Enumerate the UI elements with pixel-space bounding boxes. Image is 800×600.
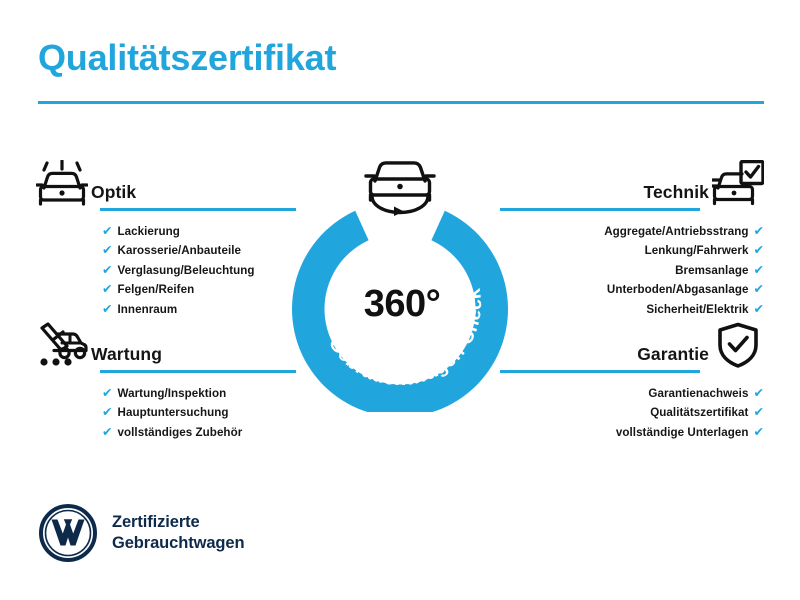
section-technik-list: Aggregate/Antriebsstrang✔ Lenkung/Fahrwe… xyxy=(497,222,767,319)
section-garantie: Garantie Garantienachweis✔ Qualitätszert… xyxy=(497,322,767,442)
list-item-label: Verglasung/Beleuchtung xyxy=(118,264,255,277)
check-icon: ✔ xyxy=(102,405,113,419)
section-wartung-divider xyxy=(100,370,296,373)
car-service-pen-icon xyxy=(33,322,91,368)
list-item: Qualitätszertifikat✔ xyxy=(497,403,764,422)
check-icon: ✔ xyxy=(102,302,113,316)
vw-logo-line1: Zertifizierte xyxy=(112,513,200,531)
list-item-label: Lackierung xyxy=(118,225,180,238)
list-item-label: Garantienachweis xyxy=(648,387,748,400)
list-item-label: vollständige Unterlagen xyxy=(616,426,749,439)
section-wartung: Wartung ✔Wartung/Inspektion ✔Hauptunters… xyxy=(33,322,303,442)
list-item-label: Sicherheit/Elektrik xyxy=(646,303,748,316)
vw-logo-line2: Gebrauchtwagen xyxy=(112,534,244,552)
list-item-label: Lenkung/Fahrwerk xyxy=(645,244,749,257)
car-shine-icon xyxy=(33,160,91,206)
section-technik-title: Technik xyxy=(497,182,709,206)
check-icon: ✔ xyxy=(753,386,764,400)
check-icon: ✔ xyxy=(102,224,113,238)
header-divider xyxy=(38,101,764,104)
vw-certified-logo: Zertifizierte Gebrauchtwagen xyxy=(38,503,244,563)
check-icon: ✔ xyxy=(753,405,764,419)
list-item: ✔Felgen/Reifen xyxy=(102,280,303,299)
check-icon: ✔ xyxy=(102,425,113,439)
section-wartung-list: ✔Wartung/Inspektion ✔Hauptuntersuchung ✔… xyxy=(33,384,303,442)
list-item: ✔Wartung/Inspektion xyxy=(102,384,303,403)
list-item-label: Qualitätszertifikat xyxy=(650,406,748,419)
vw-logo-text: Zertifizierte Gebrauchtwagen xyxy=(112,512,244,554)
section-optik-divider xyxy=(100,208,296,211)
list-item-label: Karosserie/Anbauteile xyxy=(118,244,241,257)
list-item: ✔vollständiges Zubehör xyxy=(102,423,303,442)
section-optik-list: ✔Lackierung ✔Karosserie/Anbauteile ✔Verg… xyxy=(33,222,303,319)
list-item: Bremsanlage✔ xyxy=(497,261,764,280)
list-item-label: Hauptuntersuchung xyxy=(118,406,229,419)
list-item: ✔Hauptuntersuchung xyxy=(102,403,303,422)
check-icon: ✔ xyxy=(753,243,764,257)
qualitaetszertifikat-page: Qualitätszertifikat xyxy=(0,0,800,600)
list-item-label: Aggregate/Antriebsstrang xyxy=(604,225,748,238)
page-title: Qualitätszertifikat xyxy=(38,38,336,78)
check-icon: ✔ xyxy=(102,282,113,296)
car-rotate-icon xyxy=(352,150,448,216)
360-ring-graphic: Gebrauchtwagen-Check xyxy=(292,196,508,412)
list-item: Sicherheit/Elektrik✔ xyxy=(497,300,764,319)
list-item: Garantienachweis✔ xyxy=(497,384,764,403)
section-technik: Technik Aggregate/Antriebsstrang✔ Lenkun… xyxy=(497,160,767,319)
list-item-label: vollständiges Zubehör xyxy=(118,426,243,439)
list-item: ✔Innenraum xyxy=(102,300,303,319)
check-icon: ✔ xyxy=(753,302,764,316)
360-check-badge: Gebrauchtwagen-Check 360° xyxy=(292,196,508,412)
check-icon: ✔ xyxy=(102,263,113,277)
car-checkbox-icon xyxy=(709,160,767,206)
check-icon: ✔ xyxy=(102,243,113,257)
list-item: ✔Verglasung/Beleuchtung xyxy=(102,261,303,280)
section-optik: Optik ✔Lackierung ✔Karosserie/Anbauteile… xyxy=(33,160,303,319)
shield-check-icon xyxy=(709,322,767,368)
check-icon: ✔ xyxy=(102,386,113,400)
section-technik-divider xyxy=(500,208,700,211)
section-optik-header: Optik xyxy=(33,160,303,206)
section-garantie-list: Garantienachweis✔ Qualitätszertifikat✔ v… xyxy=(497,384,767,442)
check-icon: ✔ xyxy=(753,425,764,439)
list-item: Lenkung/Fahrwerk✔ xyxy=(497,241,764,260)
vw-logo-icon xyxy=(38,503,98,563)
section-wartung-header: Wartung xyxy=(33,322,303,368)
check-icon: ✔ xyxy=(753,282,764,296)
check-icon: ✔ xyxy=(753,263,764,277)
list-item: Aggregate/Antriebsstrang✔ xyxy=(497,222,764,241)
list-item: ✔Lackierung xyxy=(102,222,303,241)
section-wartung-title: Wartung xyxy=(91,344,303,368)
section-optik-title: Optik xyxy=(91,182,303,206)
list-item-label: Felgen/Reifen xyxy=(118,283,195,296)
list-item-label: Unterboden/Abgasanlage xyxy=(607,283,749,296)
section-garantie-divider xyxy=(500,370,700,373)
list-item-label: Wartung/Inspektion xyxy=(118,387,227,400)
section-garantie-header: Garantie xyxy=(497,322,767,368)
list-item-label: Innenraum xyxy=(118,303,178,316)
section-technik-header: Technik xyxy=(497,160,767,206)
list-item: Unterboden/Abgasanlage✔ xyxy=(497,280,764,299)
check-icon: ✔ xyxy=(753,224,764,238)
list-item: vollständige Unterlagen✔ xyxy=(497,423,764,442)
list-item: ✔Karosserie/Anbauteile xyxy=(102,241,303,260)
section-garantie-title: Garantie xyxy=(497,344,709,368)
list-item-label: Bremsanlage xyxy=(675,264,748,277)
